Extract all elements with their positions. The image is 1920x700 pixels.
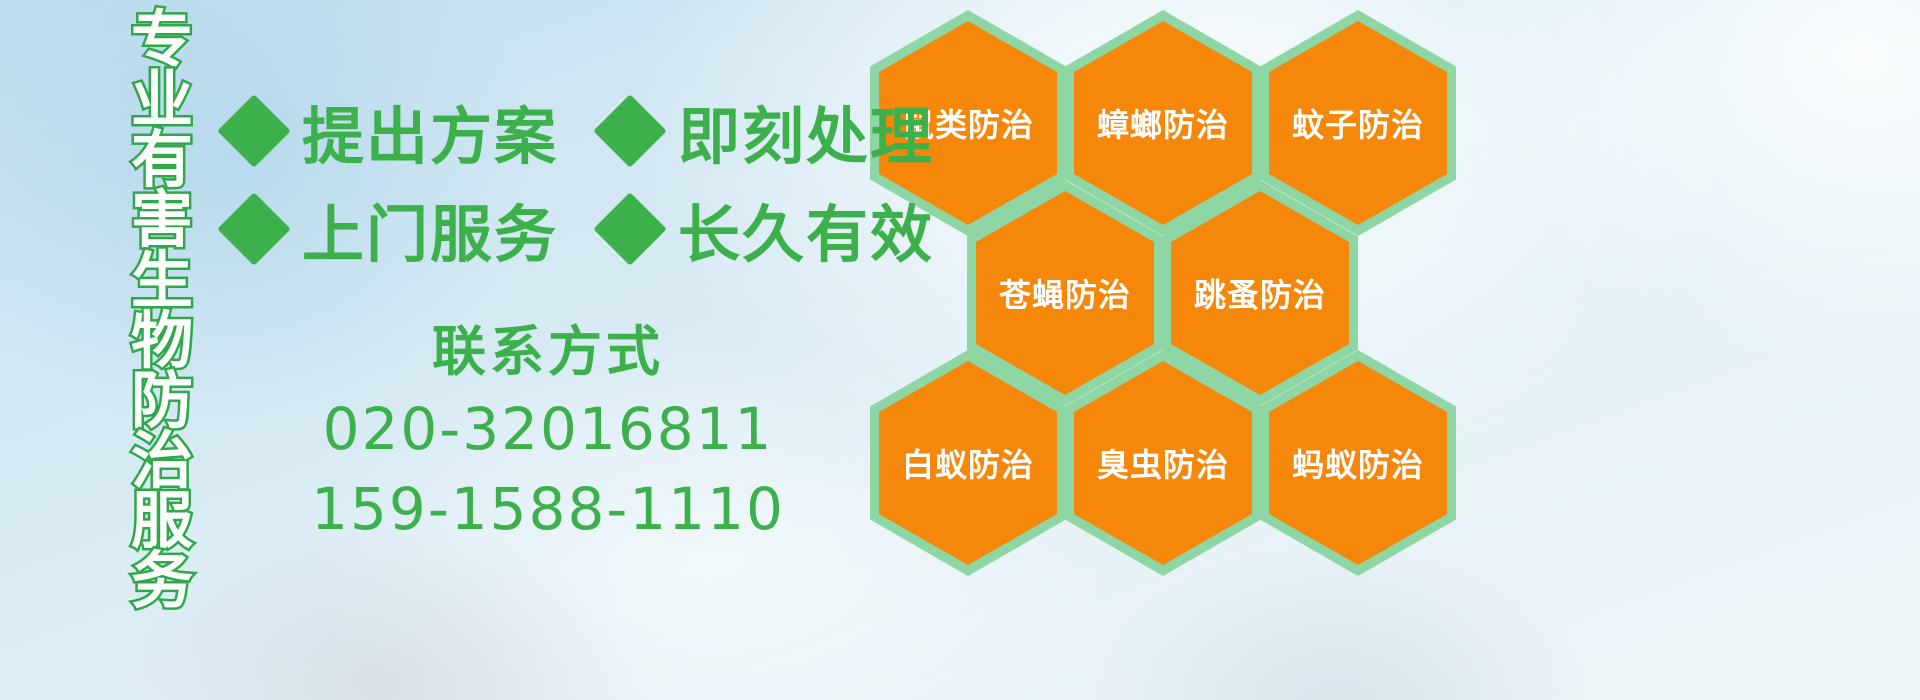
diamond-icon [593,94,667,168]
diamond-icon [217,192,291,266]
service-hex-bedbug[interactable]: 臭虫防治 [1065,350,1261,576]
contact-block: 联系方式 020-32016811 159-1588-1110 [228,318,868,546]
service-hex-label: 白蚁防治 [870,350,1066,576]
vertical-headline-char: 服 [131,491,193,551]
feature-row: 上门服务 长久有效 [228,180,954,278]
vertical-headline-char: 物 [131,311,193,371]
service-honeycomb: 鼠类防治 蟑螂防治 蚊子防治 苍蝇防治 跳蚤防治 白蚁防治 [862,0,1482,700]
pest-control-banner: 专 业 有 害 生 物 防 治 服 务 提出方案 即刻处理 上门服务 长久有效 … [0,0,1920,700]
contact-title: 联系方式 [228,318,868,386]
service-hex-ant[interactable]: 蚂蚁防治 [1260,350,1456,576]
contact-phone-mobile[interactable]: 159-1588-1110 [228,472,868,546]
diamond-icon [593,192,667,266]
vertical-headline-char: 专 [131,10,193,70]
service-hex-label: 臭虫防治 [1065,350,1261,576]
feature-label: 提出方案 [302,86,558,176]
vertical-headline: 专 业 有 害 生 物 防 治 服 务 [108,10,216,611]
feature-row: 提出方案 即刻处理 [228,82,954,180]
vertical-headline-char: 有 [131,130,193,190]
feature-list: 提出方案 即刻处理 上门服务 长久有效 [228,82,954,278]
vertical-headline-char: 害 [131,190,193,250]
vertical-headline-char: 治 [131,431,193,491]
vertical-headline-char: 业 [131,70,193,130]
vertical-headline-char: 务 [131,551,193,611]
service-hex-termite[interactable]: 白蚁防治 [870,350,1066,576]
diamond-icon [217,94,291,168]
feature-label: 即刻处理 [678,86,934,176]
feature-label: 上门服务 [302,184,558,274]
vertical-headline-char: 防 [131,371,193,431]
contact-phone-landline[interactable]: 020-32016811 [228,392,868,466]
feature-label: 长久有效 [678,184,934,274]
service-hex-label: 蚂蚁防治 [1260,350,1456,576]
vertical-headline-char: 生 [131,251,193,311]
